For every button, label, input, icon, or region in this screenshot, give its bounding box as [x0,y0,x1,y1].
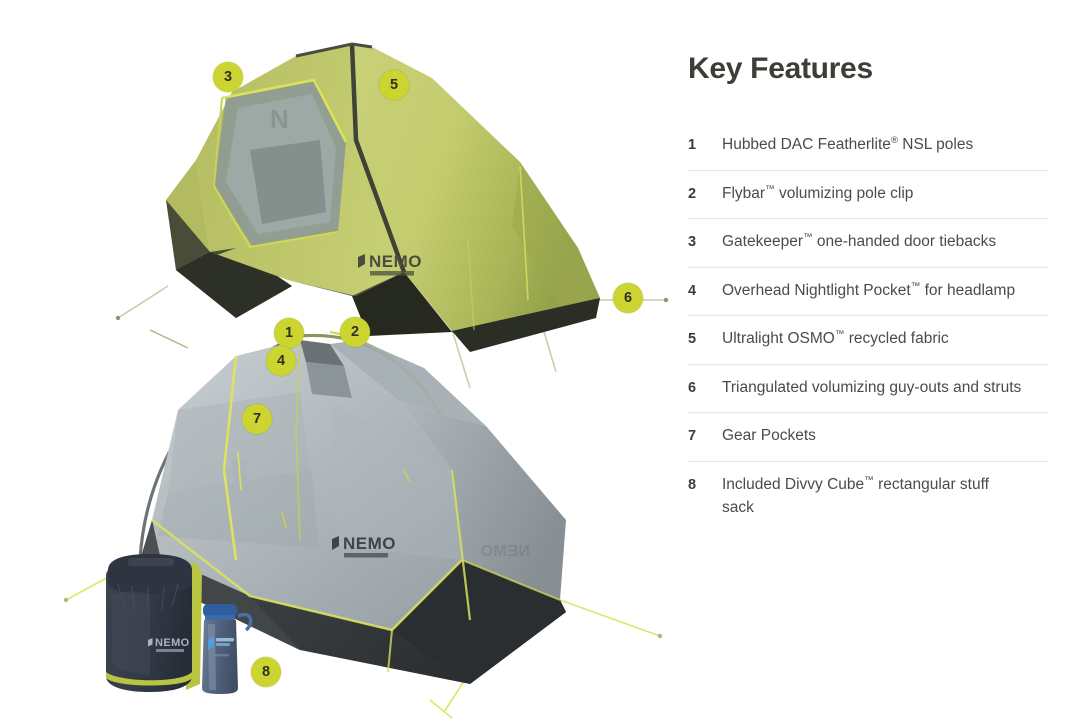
feature-text-cont: recycled fabric [844,330,948,347]
inner-nemo-logo-ghost: NEMO [480,543,530,560]
inner-stake-right [658,634,662,638]
feature-number: 6 [688,376,722,399]
feature-label: Ultralight OSMO™ recycled fabric [722,327,949,351]
feature-list: 1 Hubbed DAC Featherlite® NSL poles 2 Fl… [688,122,1048,533]
callout-badge-3[interactable]: 3 [213,62,243,92]
callout-badge-6[interactable]: 6 [613,283,643,313]
feature-number: 2 [688,182,722,205]
fly-stake-right [664,298,668,302]
feature-label: Gear Pockets [722,424,816,448]
feature-number: 7 [688,424,722,447]
bottle-body [202,620,238,694]
feature-text-main: Hubbed DAC Featherlite [722,136,891,153]
feature-text-cont: NSL poles [898,136,973,153]
feature-row-7: 7 Gear Pockets [688,412,1048,461]
page-title: Key Features [688,52,873,86]
feature-text-cont: one-handed door tiebacks [813,233,997,250]
feature-number: 8 [688,473,722,496]
svg-text:NEMO: NEMO [480,543,530,560]
feature-label: Flybar™ volumizing pole clip [722,182,913,206]
fly-stake-left [116,316,120,320]
feature-label: Overhead Nightlight Pocket™ for headlamp [722,279,1015,303]
feature-label: Included Divvy Cube™ rectangular stuff s… [722,473,1022,520]
product-image-panel: N [0,0,680,720]
svg-text:NEMO: NEMO [343,534,396,553]
feature-text-main: Triangulated volumizing guy-outs and str… [722,379,1021,396]
sack-buckle [128,558,174,566]
key-features-panel: Key Features 1 Hubbed DAC Featherlite® N… [680,0,1080,720]
sack-sheen [112,591,150,676]
feature-superscript: ™ [803,232,813,243]
feature-row-6: 6 Triangulated volumizing guy-outs and s… [688,364,1048,413]
feature-number: 5 [688,327,722,350]
feature-text-main: Flybar [722,185,765,202]
feature-number: 3 [688,230,722,253]
callout-badge-4[interactable]: 4 [266,346,296,376]
feature-superscript: ™ [864,475,874,486]
feature-number: 4 [688,279,722,302]
feature-text-main: Ultralight OSMO [722,330,835,347]
feature-superscript: ™ [835,329,845,340]
callout-badge-7[interactable]: 7 [242,404,272,434]
feature-text-main: Gear Pockets [722,427,816,444]
feature-row-4: 4 Overhead Nightlight Pocket™ for headla… [688,267,1048,316]
callout-badge-1[interactable]: 1 [274,318,304,348]
fly-door-inner-logo-ghost: N [270,104,289,134]
product-illustration: N [0,0,680,720]
bottle-highlight [208,624,216,690]
feature-text-main: Gatekeeper [722,233,803,250]
divvy-cube-stuff-sack-graphic: NEMO [106,554,202,692]
feature-text-cont: volumizing pole clip [775,185,914,202]
feature-text-main: Overhead Nightlight Pocket [722,282,911,299]
callout-badge-2[interactable]: 2 [340,317,370,347]
product-feature-page: N [0,0,1080,720]
feature-number: 1 [688,133,722,156]
feature-label: Gatekeeper™ one-handed door tiebacks [722,230,996,254]
svg-text:N: N [270,104,289,134]
callout-badge-5[interactable]: 5 [379,70,409,100]
feature-row-1: 1 Hubbed DAC Featherlite® NSL poles [688,122,1048,170]
feature-row-3: 3 Gatekeeper™ one-handed door tiebacks [688,218,1048,267]
feature-row-2: 2 Flybar™ volumizing pole clip [688,170,1048,219]
feature-superscript: ® [891,135,898,146]
feature-text-cont: for headlamp [920,282,1015,299]
callout-badge-8[interactable]: 8 [251,657,281,687]
svg-text:NEMO: NEMO [369,252,422,271]
feature-text-main: Included Divvy Cube [722,476,864,493]
inner-stake-left [64,598,68,602]
feature-superscript: ™ [765,183,775,194]
feature-label: Hubbed DAC Featherlite® NSL poles [722,133,973,157]
fly-door-inner-shadow [250,140,326,224]
feature-label: Triangulated volumizing guy-outs and str… [722,376,1021,400]
svg-text:NEMO: NEMO [155,637,190,649]
feature-superscript: ™ [911,280,921,291]
feature-row-8: 8 Included Divvy Cube™ rectangular stuff… [688,461,1048,533]
feature-row-5: 5 Ultralight OSMO™ recycled fabric [688,315,1048,364]
